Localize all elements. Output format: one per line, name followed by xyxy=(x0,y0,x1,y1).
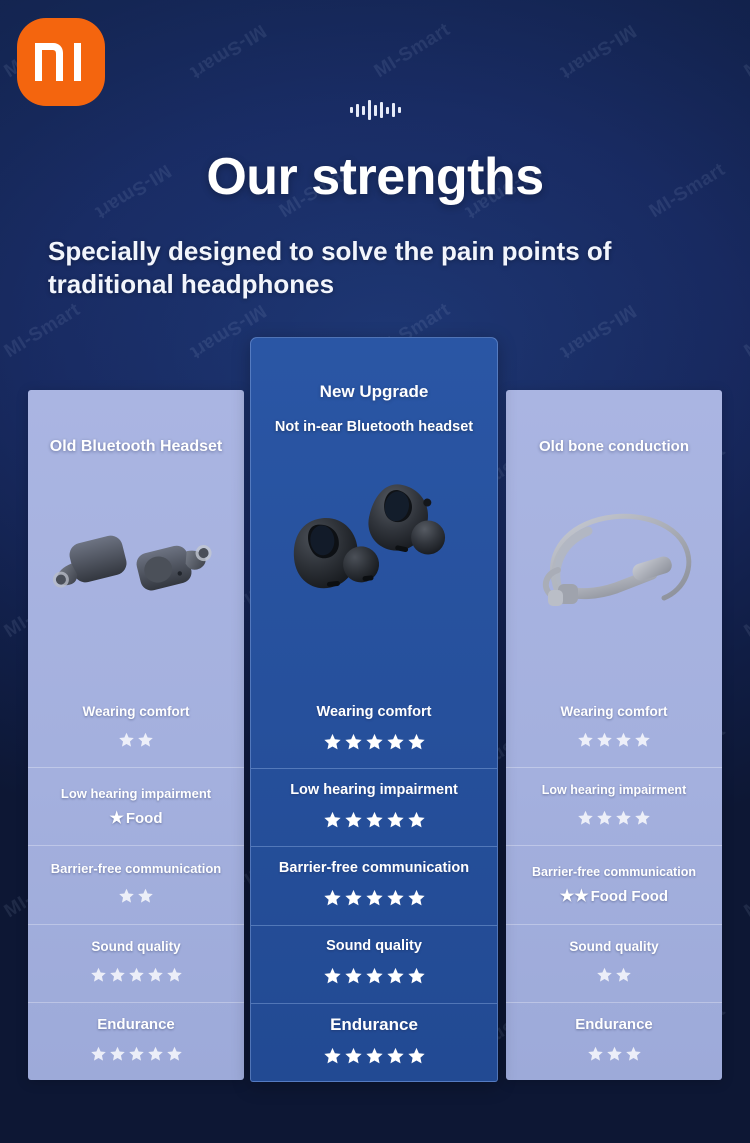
column-header: Old bone conduction xyxy=(506,390,722,690)
star-icon xyxy=(365,810,384,834)
row-label: Barrier-free communication xyxy=(532,865,696,880)
star-icon xyxy=(323,966,342,990)
star-icon xyxy=(344,1046,363,1070)
star-rating xyxy=(90,1045,183,1067)
star-icon xyxy=(323,810,342,834)
star-icon xyxy=(386,810,405,834)
star-glyph-icon: ★ xyxy=(560,889,574,905)
column-rows: Wearing comfortLow hearing impairmentBar… xyxy=(506,690,722,1080)
star-rating xyxy=(323,966,426,990)
comparison-column-new-upgrade: New UpgradeNot in-ear Bluetooth headsetW… xyxy=(250,337,498,1082)
comparison-row: Sound quality xyxy=(251,925,497,1003)
star-icon xyxy=(596,809,613,831)
star-icon xyxy=(109,966,126,988)
star-icon xyxy=(365,888,384,912)
comparison-column-old-bluetooth-headset: Old Bluetooth HeadsetWearing comfortLow … xyxy=(28,390,244,1080)
star-icon xyxy=(137,731,154,753)
star-rating xyxy=(596,966,632,988)
star-icon xyxy=(118,887,135,909)
column-subtitle: Not in-ear Bluetooth headset xyxy=(251,419,497,435)
column-header: Old Bluetooth Headset xyxy=(28,390,244,690)
star-icon xyxy=(615,809,632,831)
comparison-row: Wearing comfort xyxy=(506,690,722,767)
column-rows: Wearing comfortLow hearing impairment★Fo… xyxy=(28,690,244,1080)
star-rating xyxy=(587,1045,642,1067)
star-icon xyxy=(323,1046,342,1070)
comparison-row: Sound quality xyxy=(506,924,722,1002)
comparison-row: Wearing comfort xyxy=(251,691,497,768)
rating-word: Food Food xyxy=(591,888,668,905)
star-icon xyxy=(118,731,135,753)
comparison-row: Barrier-free communication★★Food Food xyxy=(506,845,722,923)
star-icon xyxy=(323,888,342,912)
star-icon xyxy=(587,1045,604,1067)
star-icon xyxy=(625,1045,642,1067)
comparison-row: Sound quality xyxy=(28,924,244,1002)
star-icon xyxy=(634,809,651,831)
star-icon xyxy=(344,888,363,912)
row-label: Sound quality xyxy=(569,939,658,955)
infographic-page: MI-SmartMI-SmartMI-SmartMI-SmartMI-Smart… xyxy=(0,0,750,1143)
row-label: Wearing comfort xyxy=(317,704,432,721)
star-icon xyxy=(344,732,363,756)
comparison-row: Low hearing impairment★Food xyxy=(28,767,244,845)
row-label: Wearing comfort xyxy=(560,704,667,720)
row-label: Low hearing impairment xyxy=(61,786,211,801)
row-label: Low hearing impairment xyxy=(542,783,686,798)
row-label: Wearing comfort xyxy=(82,704,189,720)
star-rating xyxy=(323,810,426,834)
clip-on-earbuds-icon xyxy=(251,438,497,638)
column-rows: Wearing comfortLow hearing impairmentBar… xyxy=(251,691,497,1081)
star-rating xyxy=(323,1046,426,1070)
star-icon xyxy=(407,810,426,834)
star-icon xyxy=(386,1046,405,1070)
star-icon xyxy=(90,966,107,988)
star-icon xyxy=(596,731,613,753)
column-title: Old Bluetooth Headset xyxy=(28,438,244,456)
star-rating xyxy=(577,809,651,831)
star-icon xyxy=(109,1045,126,1067)
star-icon xyxy=(596,966,613,988)
star-icon xyxy=(606,1045,623,1067)
star-icon xyxy=(365,1046,384,1070)
star-rating xyxy=(118,887,154,909)
column-header: New UpgradeNot in-ear Bluetooth headset xyxy=(251,338,497,691)
star-icon xyxy=(128,966,145,988)
star-rating xyxy=(577,731,651,753)
rating-text: ★Food xyxy=(110,810,163,827)
star-icon xyxy=(386,966,405,990)
comparison-row: Endurance xyxy=(251,1003,497,1081)
star-icon xyxy=(323,732,342,756)
star-rating xyxy=(118,731,154,753)
row-label: Low hearing impairment xyxy=(290,782,458,799)
star-icon xyxy=(128,1045,145,1067)
star-glyph-icon: ★ xyxy=(110,811,124,827)
row-label: Barrier-free communication xyxy=(51,861,222,876)
column-title: Old bone conduction xyxy=(506,438,722,455)
comparison-row: Endurance xyxy=(28,1002,244,1080)
star-icon xyxy=(407,732,426,756)
star-icon xyxy=(166,1045,183,1067)
row-label: Endurance xyxy=(97,1016,175,1034)
star-icon xyxy=(386,732,405,756)
star-icon xyxy=(634,731,651,753)
star-icon xyxy=(615,731,632,753)
star-icon xyxy=(147,1045,164,1067)
star-icon xyxy=(386,888,405,912)
comparison-table: Old Bluetooth HeadsetWearing comfortLow … xyxy=(0,0,750,1143)
comparison-row: Endurance xyxy=(506,1002,722,1080)
row-label: Sound quality xyxy=(91,939,180,955)
star-icon xyxy=(365,732,384,756)
star-icon xyxy=(166,966,183,988)
comparison-row: Wearing comfort xyxy=(28,690,244,767)
star-icon xyxy=(407,1046,426,1070)
star-icon xyxy=(344,966,363,990)
comparison-row: Low hearing impairment xyxy=(251,768,497,846)
star-rating xyxy=(323,732,426,756)
star-icon xyxy=(147,966,164,988)
star-icon xyxy=(407,888,426,912)
comparison-row: Barrier-free communication xyxy=(28,845,244,923)
star-glyph-icon: ★ xyxy=(574,889,588,905)
row-label: Sound quality xyxy=(326,938,422,955)
star-icon xyxy=(407,966,426,990)
star-icon xyxy=(615,966,632,988)
comparison-row: Low hearing impairment xyxy=(506,767,722,845)
comparison-row: Barrier-free communication xyxy=(251,846,497,924)
bone-conduction-headset-icon xyxy=(506,478,722,648)
row-label: Endurance xyxy=(575,1016,653,1034)
star-rating xyxy=(90,966,183,988)
old-bluetooth-earbuds-icon xyxy=(28,478,244,648)
comparison-column-old-bone-conduction: Old bone conductionWearing comfortLow he… xyxy=(506,390,722,1080)
row-label: Barrier-free communication xyxy=(279,860,469,877)
star-icon xyxy=(137,887,154,909)
star-icon xyxy=(344,810,363,834)
star-icon xyxy=(577,731,594,753)
row-label: Endurance xyxy=(330,1015,418,1035)
star-icon xyxy=(90,1045,107,1067)
star-icon xyxy=(577,809,594,831)
rating-text: ★★Food Food xyxy=(560,888,668,905)
rating-word: Food xyxy=(126,810,163,827)
column-title: New Upgrade xyxy=(251,382,497,402)
star-icon xyxy=(365,966,384,990)
star-rating xyxy=(323,888,426,912)
